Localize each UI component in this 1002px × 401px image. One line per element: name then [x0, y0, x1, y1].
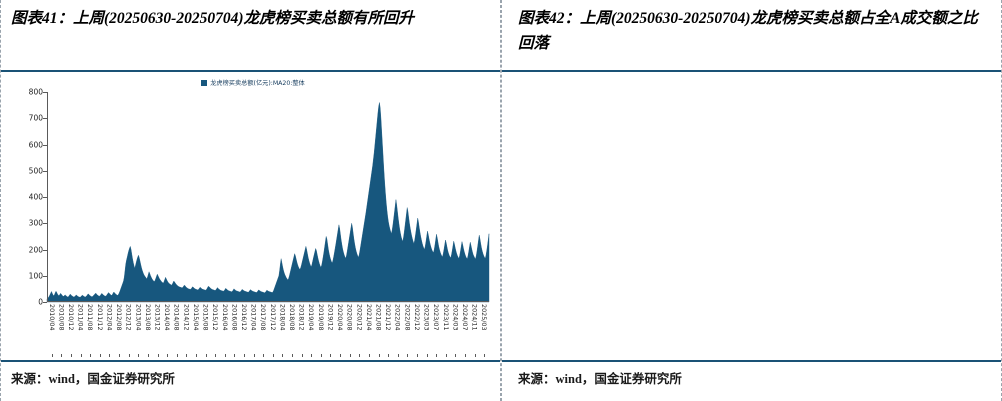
x-axis-tick-mark	[388, 354, 389, 357]
x-axis-tick-mark	[321, 354, 322, 357]
y-axis-tick-label: 400	[29, 193, 43, 202]
chart-41-series-svg	[47, 92, 489, 302]
x-axis-tick-mark	[417, 354, 418, 357]
x-axis-tick-label: 2017/12	[269, 304, 277, 331]
chart-41-plot-area: 0100200300400500600700800 2010/042010/08…	[47, 92, 489, 302]
x-axis-tick-mark	[330, 354, 331, 357]
y-axis-tick-mark	[43, 145, 47, 146]
x-axis-tick-mark	[61, 354, 62, 357]
x-axis-tick-label: 2012/08	[115, 304, 123, 331]
x-axis-tick-label: 2013/12	[154, 304, 162, 331]
x-axis-tick-mark	[263, 354, 264, 357]
x-axis-tick-label: 2020/08	[346, 304, 354, 331]
footer-divider	[502, 360, 1001, 362]
x-axis-tick-label: 2014/08	[173, 304, 181, 331]
x-axis-tick-mark	[398, 354, 399, 357]
figures-page: 图表41：上周(20250630-20250704)龙虎榜买卖总额有所回升 来源…	[0, 0, 1002, 401]
x-axis-tick-mark	[350, 354, 351, 357]
x-axis-tick-label: 2022/12	[413, 304, 421, 331]
x-axis-tick-mark	[138, 354, 139, 357]
x-axis-tick-mark	[119, 354, 120, 357]
x-axis-tick-label: 2017/08	[259, 304, 267, 331]
x-axis-tick-label: 2010/04	[48, 304, 56, 331]
x-axis-tick-mark	[225, 354, 226, 357]
y-axis-tick-label: 100	[29, 271, 43, 280]
x-axis-tick-label: 2019/04	[307, 304, 315, 331]
y-axis-tick-label: 300	[29, 219, 43, 228]
x-axis-tick-mark	[215, 354, 216, 357]
y-axis-tick-label: 800	[29, 88, 43, 97]
title-divider	[1, 70, 500, 72]
y-axis-tick-mark	[43, 276, 47, 277]
x-axis-tick-mark	[234, 354, 235, 357]
x-axis-tick-mark	[177, 354, 178, 357]
y-axis-tick-label: 700	[29, 114, 43, 123]
x-axis-tick-mark	[129, 354, 130, 357]
x-axis-tick-mark	[167, 354, 168, 357]
x-axis-tick-label: 2015/08	[202, 304, 210, 331]
x-axis-tick-label: 2024/03	[451, 304, 459, 331]
y-axis-tick-mark	[43, 197, 47, 198]
x-axis-tick-mark	[407, 354, 408, 357]
figure-41-title: 图表41：上周(20250630-20250704)龙虎榜买卖总额有所回升	[11, 6, 488, 31]
x-axis-tick-label: 2012/04	[105, 304, 113, 331]
y-axis-tick-mark	[43, 118, 47, 119]
x-axis-tick-label: 2023/03	[423, 304, 431, 331]
x-axis-tick-label: 2022/08	[403, 304, 411, 331]
x-axis-tick-mark	[311, 354, 312, 357]
figure-panel-41: 图表41：上周(20250630-20250704)龙虎榜买卖总额有所回升 来源…	[0, 0, 501, 401]
x-axis-tick-mark	[379, 354, 380, 357]
x-axis-tick-label: 2014/12	[182, 304, 190, 331]
x-axis-tick-label: 2020/12	[355, 304, 363, 331]
figure-42-source: 来源：wind，国金证券研究所	[518, 368, 682, 387]
x-axis-tick-mark	[446, 354, 447, 357]
x-axis-tick-label: 2010/08	[57, 304, 65, 331]
y-axis-tick-label: 500	[29, 166, 43, 175]
x-axis-tick-label: 2018/12	[298, 304, 306, 331]
x-axis-tick-label: 2013/04	[134, 304, 142, 331]
x-axis-tick-label: 2023/07	[432, 304, 440, 331]
y-axis-line	[47, 92, 48, 302]
y-axis-tick-mark	[43, 171, 47, 172]
x-axis-tick-mark	[359, 354, 360, 357]
y-axis-tick-mark	[43, 250, 47, 251]
area-series-total-amount	[47, 103, 489, 303]
x-axis-tick-label: 2016/04	[221, 304, 229, 331]
x-axis-tick-mark	[52, 354, 53, 357]
y-axis-tick-label: 200	[29, 245, 43, 254]
x-axis-tick-label: 2010/12	[67, 304, 75, 331]
legend-item-total-amount: 龙虎榜买卖总额(亿元):MA20:整体	[201, 78, 305, 87]
x-axis-tick-mark	[282, 354, 283, 357]
x-axis-tick-mark	[369, 354, 370, 357]
x-axis-tick-mark	[100, 354, 101, 357]
x-axis-tick-label: 2024/07	[461, 304, 469, 331]
x-axis-tick-mark	[455, 354, 456, 357]
x-axis-tick-mark	[158, 354, 159, 357]
x-axis-tick-label: 2014/04	[163, 304, 171, 331]
x-axis-tick-mark	[196, 354, 197, 357]
x-axis-tick-label: 2021/04	[365, 304, 373, 331]
x-axis-tick-label: 2023/11	[442, 304, 450, 331]
x-axis-tick-mark	[340, 354, 341, 357]
y-axis-tick-mark	[43, 92, 47, 93]
chart-41-x-labels: 2010/042010/082010/122011/042011/082011/…	[47, 302, 489, 354]
x-axis-tick-label: 2018/04	[278, 304, 286, 331]
x-axis-tick-label: 2013/08	[144, 304, 152, 331]
x-axis-tick-label: 2024/11	[471, 304, 479, 331]
x-axis-tick-mark	[148, 354, 149, 357]
x-axis-tick-label: 2018/08	[288, 304, 296, 331]
y-axis-tick-label: 600	[29, 140, 43, 149]
x-axis-tick-label: 2012/12	[125, 304, 133, 331]
x-axis-tick-label: 2017/04	[250, 304, 258, 331]
chart-41-legend: 龙虎榜买卖总额(亿元):MA20:整体	[9, 78, 497, 87]
x-axis-tick-mark	[302, 354, 303, 357]
x-axis-tick-mark	[186, 354, 187, 357]
figure-42-title: 图表42：上周(20250630-20250704)龙虎榜买卖总额占全A成交额之…	[518, 6, 989, 56]
x-axis-tick-mark	[427, 354, 428, 357]
x-axis-tick-mark	[273, 354, 274, 357]
y-axis-tick-mark	[43, 223, 47, 224]
x-axis-tick-label: 2025/03	[480, 304, 488, 331]
x-axis-tick-mark	[109, 354, 110, 357]
figure-41-source: 来源：wind，国金证券研究所	[11, 368, 175, 387]
x-axis-tick-label: 2011/04	[77, 304, 85, 331]
x-axis-tick-label: 2019/08	[317, 304, 325, 331]
x-axis-tick-label: 2021/12	[384, 304, 392, 331]
legend-label: 龙虎榜买卖总额(亿元):MA20:整体	[210, 78, 305, 87]
x-axis-tick-label: 2011/08	[86, 304, 94, 331]
x-axis-tick-label: 2016/08	[230, 304, 238, 331]
x-axis-tick-mark	[484, 354, 485, 357]
x-axis-tick-mark	[206, 354, 207, 357]
x-axis-tick-label: 2015/04	[192, 304, 200, 331]
legend-swatch-icon	[201, 80, 207, 86]
x-axis-tick-label: 2011/12	[96, 304, 104, 331]
x-axis-tick-label: 2020/04	[336, 304, 344, 331]
x-axis-tick-mark	[244, 354, 245, 357]
x-axis-tick-label: 2019/12	[326, 304, 334, 331]
x-axis-tick-mark	[292, 354, 293, 357]
x-axis-tick-mark	[90, 354, 91, 357]
x-axis-tick-label: 2016/12	[240, 304, 248, 331]
x-axis-tick-label: 2022/04	[394, 304, 402, 331]
figure-panel-42: 图表42：上周(20250630-20250704)龙虎榜买卖总额占全A成交额之…	[501, 0, 1002, 401]
x-axis-tick-mark	[475, 354, 476, 357]
x-axis-tick-mark	[436, 354, 437, 357]
x-axis-tick-mark	[254, 354, 255, 357]
x-axis-tick-label: 2015/12	[211, 304, 219, 331]
x-axis-tick-mark	[81, 354, 82, 357]
x-axis-tick-mark	[465, 354, 466, 357]
title-divider	[502, 70, 1001, 72]
x-axis-tick-label: 2021/08	[375, 304, 383, 331]
footer-divider	[1, 360, 500, 362]
x-axis-tick-mark	[71, 354, 72, 357]
chart-41: 龙虎榜买卖总额(亿元):MA20:整体 01002003004005006007…	[9, 78, 497, 353]
